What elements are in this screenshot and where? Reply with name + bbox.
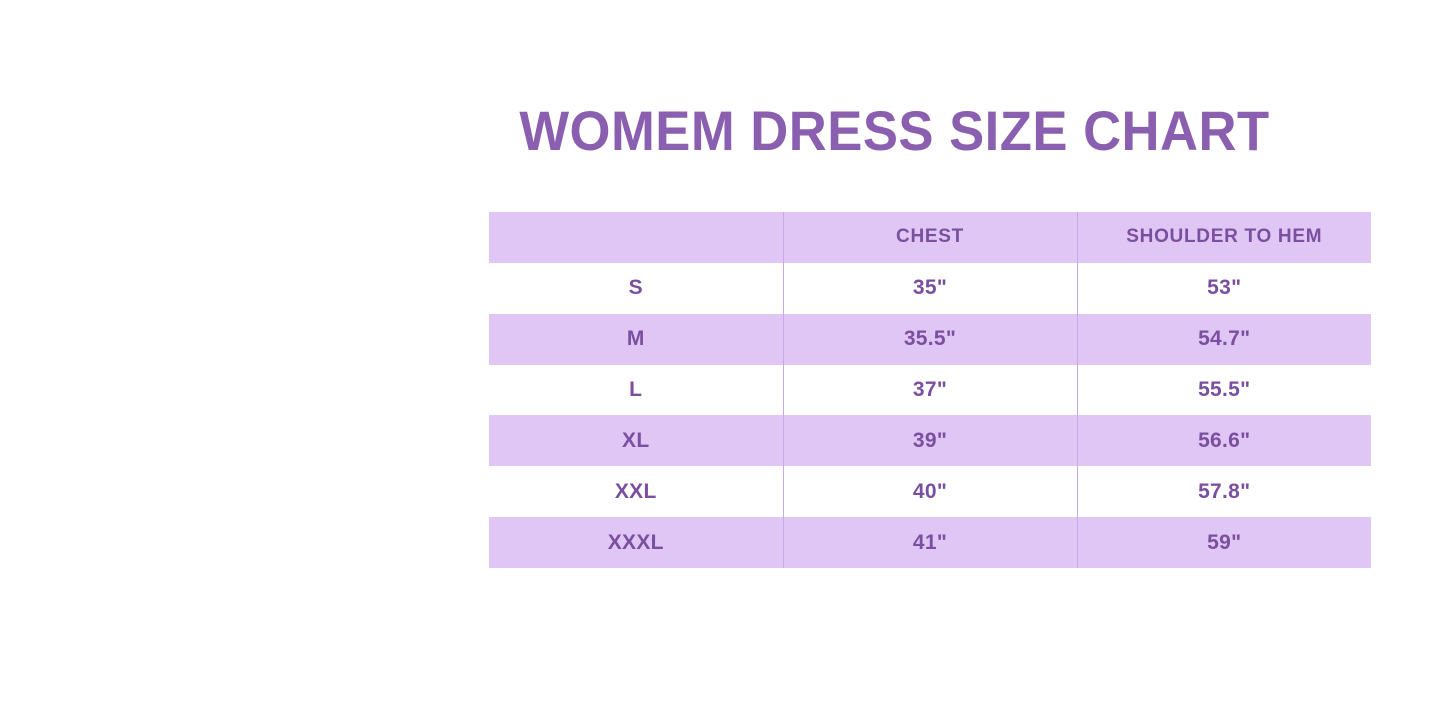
cell-size: XXXL — [489, 517, 783, 568]
size-chart-table: CHEST SHOULDER TO HEM S 35" 53" M 35.5" … — [489, 212, 1371, 568]
cell-size: XXL — [489, 466, 783, 517]
cell-shoulder-to-hem: 56.6" — [1077, 415, 1371, 466]
table-row: M 35.5" 54.7" — [489, 314, 1371, 365]
cell-shoulder-to-hem: 54.7" — [1077, 314, 1371, 365]
cell-shoulder-to-hem: 57.8" — [1077, 466, 1371, 517]
header-cell-shoulder-to-hem: SHOULDER TO HEM — [1077, 212, 1371, 263]
cell-shoulder-to-hem: 53" — [1077, 263, 1371, 314]
cell-chest: 35.5" — [783, 314, 1077, 365]
cell-chest: 37" — [783, 365, 1077, 416]
page-title: WOMEM DRESS SIZE CHART — [43, 96, 1401, 166]
cell-size: L — [489, 365, 783, 416]
cell-size: XL — [489, 415, 783, 466]
cell-size: M — [489, 314, 783, 365]
table-row: XL 39" 56.6" — [489, 415, 1371, 466]
cell-chest: 35" — [783, 263, 1077, 314]
cell-chest: 41" — [783, 517, 1077, 568]
header-cell-chest: CHEST — [783, 212, 1077, 263]
cell-shoulder-to-hem: 55.5" — [1077, 365, 1371, 416]
table-row: XXL 40" 57.8" — [489, 466, 1371, 517]
header-cell-size — [489, 212, 783, 263]
cell-shoulder-to-hem: 59" — [1077, 517, 1371, 568]
table-row: L 37" 55.5" — [489, 365, 1371, 416]
table-row: S 35" 53" — [489, 263, 1371, 314]
size-chart-container: CHEST SHOULDER TO HEM S 35" 53" M 35.5" … — [489, 212, 1371, 568]
table-row: XXXL 41" 59" — [489, 517, 1371, 568]
cell-size: S — [489, 263, 783, 314]
cell-chest: 39" — [783, 415, 1077, 466]
cell-chest: 40" — [783, 466, 1077, 517]
table-header-row: CHEST SHOULDER TO HEM — [489, 212, 1371, 263]
